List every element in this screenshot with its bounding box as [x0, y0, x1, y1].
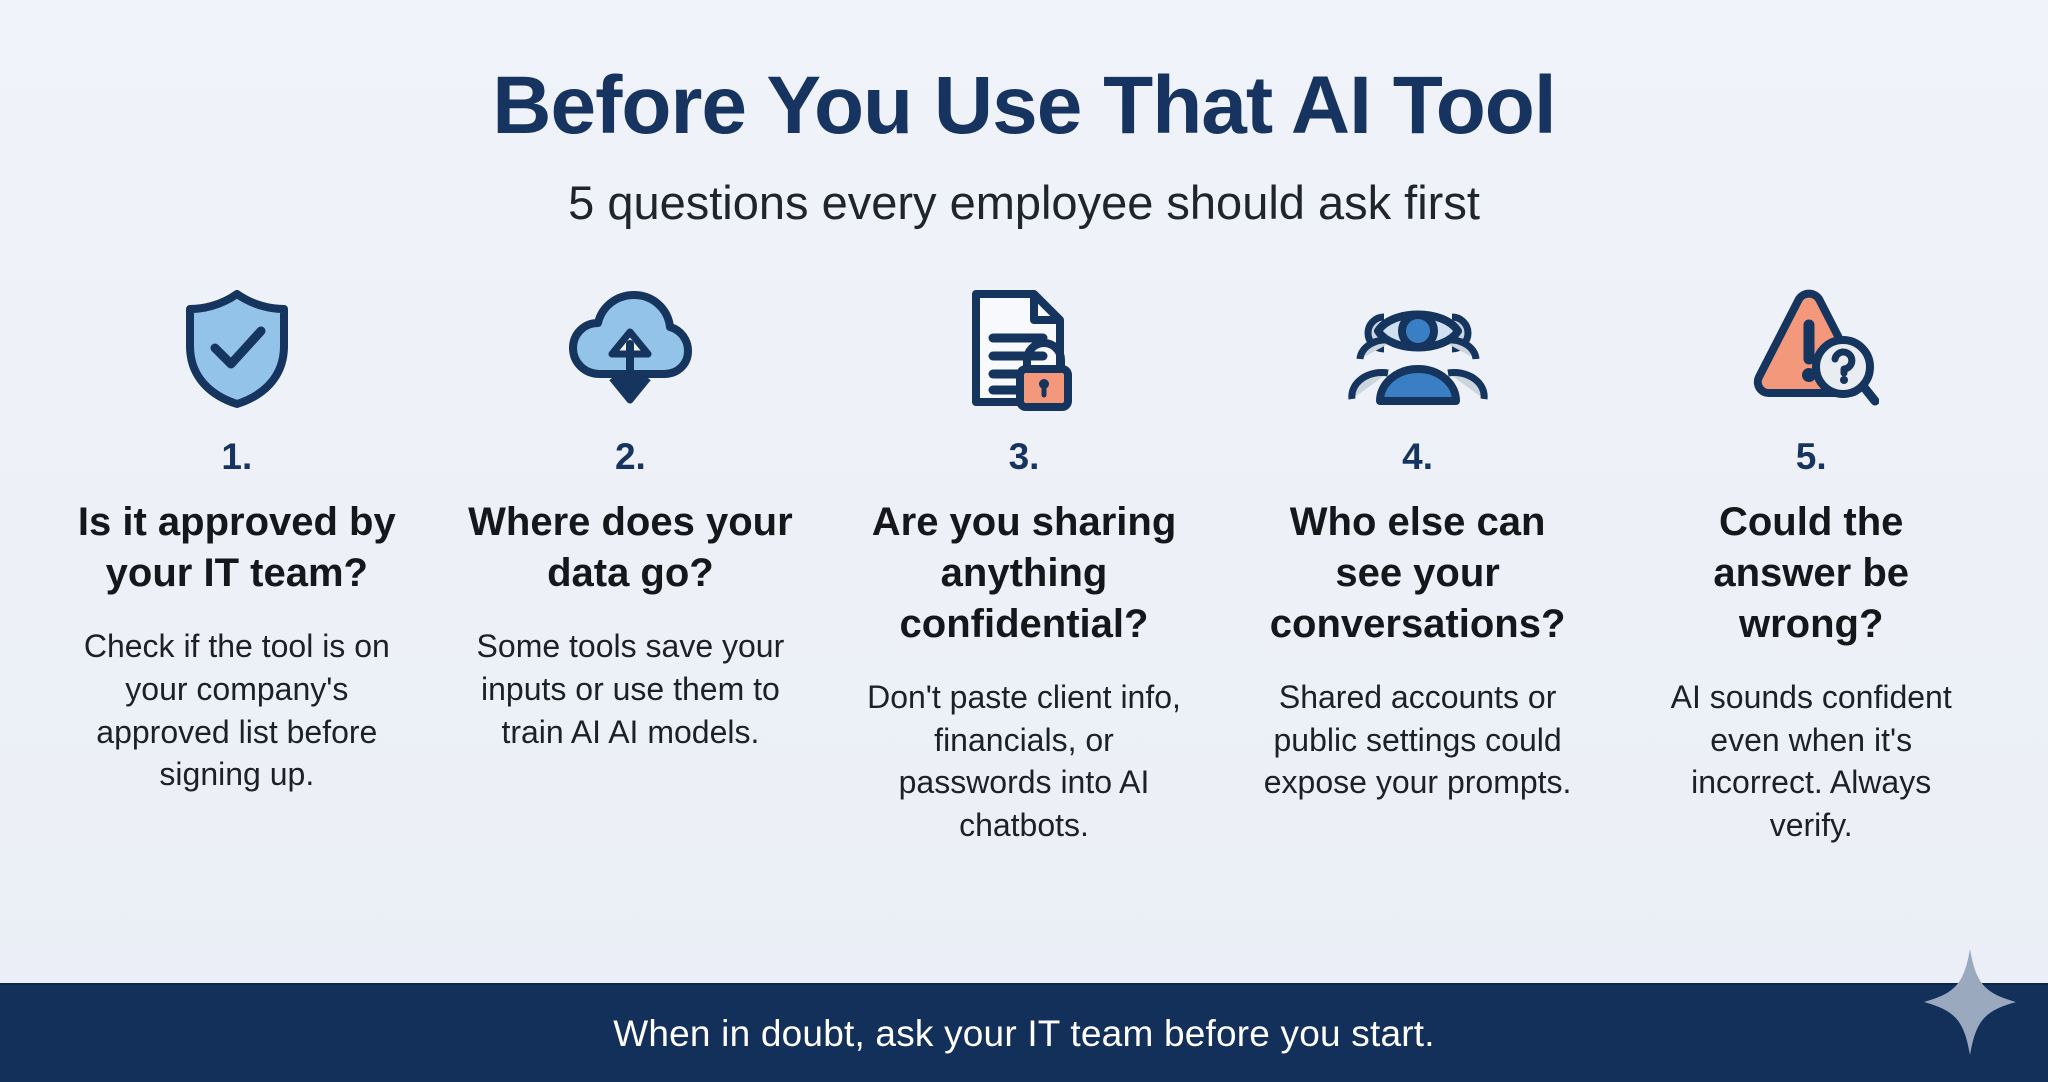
infographic-poster: Before You Use That AI Tool 5 questions …	[0, 0, 2048, 1082]
question-title: Could the answer be wrong?	[1646, 497, 1976, 649]
document-lock-icon	[962, 286, 1086, 410]
question-title: Where does your data go?	[465, 497, 795, 599]
question-column-1: 1. Is it approved by your IT team? Check…	[40, 286, 434, 796]
page-subtitle: 5 questions every employee should ask fi…	[0, 177, 2048, 229]
question-title: Is it approved by your IT team?	[72, 497, 402, 599]
question-body: Check if the tool is on your company's a…	[72, 625, 402, 797]
question-body: AI sounds confident even when it's incor…	[1646, 676, 1976, 848]
question-number: 1.	[221, 438, 252, 475]
cloud-data-transfer-icon	[564, 286, 696, 410]
question-number: 3.	[1009, 438, 1040, 475]
footer-bar: When in doubt, ask your IT team before y…	[0, 983, 2048, 1082]
footer-text: When in doubt, ask your IT team before y…	[613, 1013, 1434, 1055]
question-column-3: 3. Are you sharing anything confidential…	[827, 286, 1221, 847]
poster-header: Before You Use That AI Tool 5 questions …	[0, 0, 2048, 228]
people-eye-icon	[1346, 286, 1490, 410]
warning-question-icon	[1743, 286, 1879, 410]
question-number: 5.	[1796, 438, 1827, 475]
question-title: Who else can see your conversations?	[1253, 497, 1583, 649]
question-body: Shared accounts or public settings could…	[1253, 676, 1583, 805]
question-column-4: 4. Who else can see your conversations? …	[1221, 286, 1615, 804]
sparkle-icon	[1922, 947, 2018, 1057]
question-title: Are you sharing anything confidential?	[859, 497, 1189, 649]
question-body: Don't paste client info, financials, or …	[859, 676, 1189, 848]
question-column-5: 5. Could the answer be wrong? AI sounds …	[1614, 286, 2008, 847]
question-number: 4.	[1402, 438, 1433, 475]
shield-check-icon	[178, 286, 296, 410]
page-title: Before You Use That AI Tool	[0, 62, 2048, 151]
question-number: 2.	[615, 438, 646, 475]
question-columns: 1. Is it approved by your IT team? Check…	[0, 228, 2048, 983]
question-body: Some tools save your inputs or use them …	[465, 625, 795, 754]
question-column-2: 2. Where does your data go? Some tools s…	[434, 286, 828, 753]
